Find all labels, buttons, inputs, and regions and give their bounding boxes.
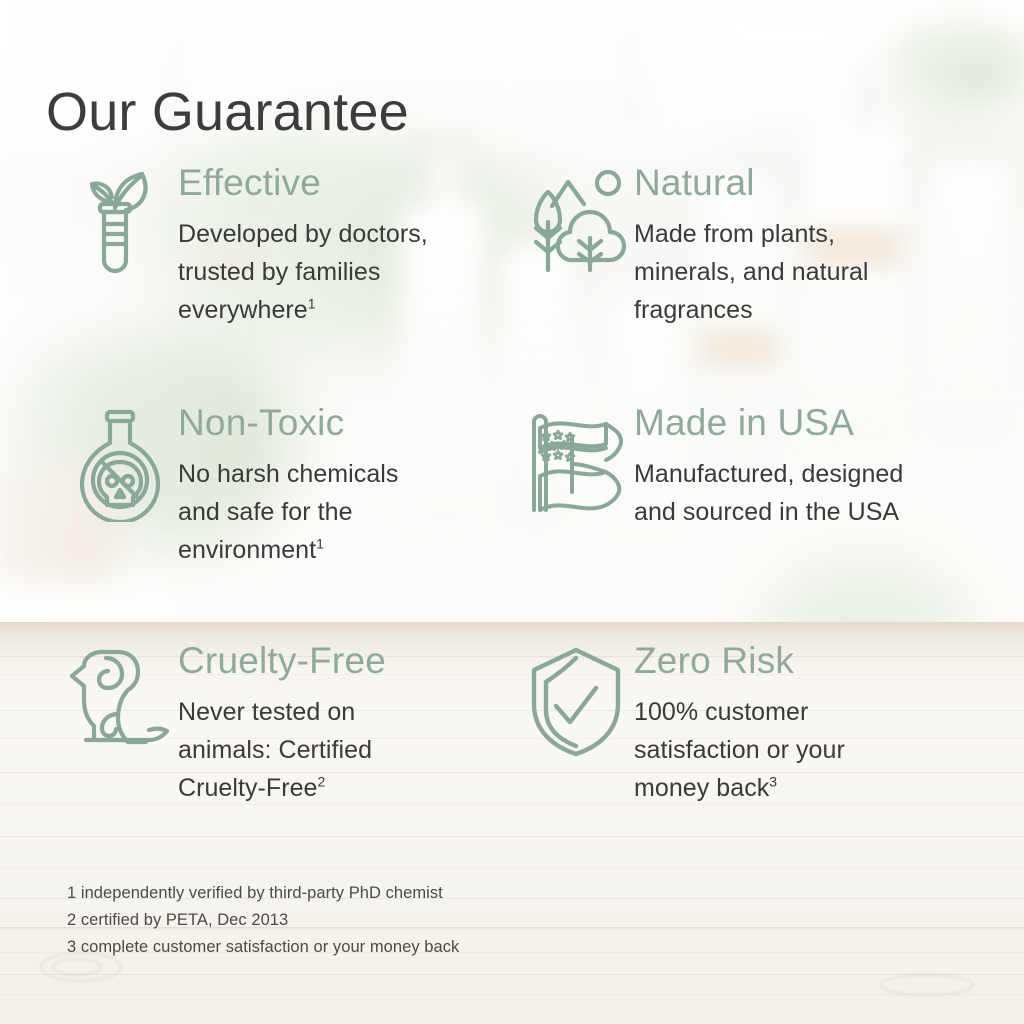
feature-made-in-usa: Made in USA Manufactured, designed and s… (518, 402, 988, 531)
body-line: satisfaction or your (634, 736, 845, 764)
body-line: Never tested on (178, 698, 355, 726)
body-line: Made from plants, (634, 220, 835, 248)
feature-text: Natural Made from plants, minerals, and … (634, 162, 988, 329)
feature-body: Developed by doctors, trusted by familie… (178, 215, 502, 329)
guarantee-infographic: Our Guarantee (0, 0, 1024, 1024)
feature-text: Cruelty-Free Never tested on animals: Ce… (178, 640, 502, 807)
feature-heading: Made in USA (634, 404, 988, 443)
shield-check-icon (518, 644, 634, 760)
footnote-1: 1 independently verified by third-party … (67, 880, 459, 907)
feature-body: Manufactured, designed and sourced in th… (634, 455, 988, 531)
feature-body: Made from plants, minerals, and natural … (634, 215, 988, 329)
footnote-2: 2 certified by PETA, Dec 2013 (67, 907, 459, 934)
feature-text: Zero Risk 100% customer satisfaction or … (634, 640, 988, 807)
body-line: environment (178, 536, 316, 564)
body-line: Cruelty-Free (178, 774, 318, 802)
feature-natural: Natural Made from plants, minerals, and … (518, 162, 988, 329)
feature-cruelty-free: Cruelty-Free Never tested on animals: Ce… (62, 640, 502, 807)
features-row-2: Non-Toxic No harsh chemicals and safe fo… (0, 402, 1024, 640)
feature-heading: Cruelty-Free (178, 642, 502, 681)
footnote-marker: 2 (318, 774, 326, 790)
feature-heading: Natural (634, 164, 988, 203)
feature-text: Non-Toxic No harsh chemicals and safe fo… (178, 402, 502, 569)
test-tube-leaf-icon (62, 166, 178, 282)
feature-body: No harsh chemicals and safe for the envi… (178, 455, 502, 569)
body-line: No harsh chemicals (178, 460, 398, 488)
sitting-dog-icon (62, 644, 178, 760)
body-line: trusted by families (178, 258, 380, 286)
footnote-marker: 3 (769, 774, 777, 790)
feature-body: Never tested on animals: Certified Cruel… (178, 693, 502, 807)
body-line: animals: Certified (178, 736, 372, 764)
feature-effective: Effective Developed by doctors, trusted … (62, 162, 502, 329)
features-grid: Effective Developed by doctors, trusted … (0, 162, 1024, 840)
feature-heading: Zero Risk (634, 642, 988, 681)
footnote-marker: 1 (316, 536, 324, 552)
body-line: and sourced in the USA (634, 498, 899, 526)
body-line: minerals, and natural (634, 258, 869, 286)
feature-heading: Non-Toxic (178, 404, 502, 443)
footnote-3: 3 complete customer satisfaction or your… (67, 934, 459, 961)
feature-body: 100% customer satisfaction or your money… (634, 693, 988, 807)
body-line: Developed by doctors, (178, 220, 428, 248)
body-line: and safe for the (178, 498, 353, 526)
body-line: Manufactured, designed (634, 460, 903, 488)
feature-text: Made in USA Manufactured, designed and s… (634, 402, 988, 531)
feature-non-toxic: Non-Toxic No harsh chemicals and safe fo… (62, 402, 502, 569)
usa-flag-icon (518, 406, 634, 522)
footnote-marker: 1 (308, 296, 316, 312)
content-layer: Our Guarantee (0, 0, 1024, 1024)
body-line: fragrances (634, 296, 753, 324)
body-line: everywhere (178, 296, 308, 324)
features-row-3: Cruelty-Free Never tested on animals: Ce… (0, 640, 1024, 840)
feature-zero-risk: Zero Risk 100% customer satisfaction or … (518, 640, 988, 807)
feature-heading: Effective (178, 164, 502, 203)
body-line: 100% customer (634, 698, 808, 726)
feature-text: Effective Developed by doctors, trusted … (178, 162, 502, 329)
features-row-1: Effective Developed by doctors, trusted … (0, 162, 1024, 402)
body-line: money back (634, 774, 769, 802)
poison-bottle-skull-crossed-icon (62, 406, 178, 522)
trees-mountain-sun-icon (518, 166, 634, 282)
footnotes: 1 independently verified by third-party … (67, 880, 459, 961)
page-title: Our Guarantee (46, 83, 409, 142)
